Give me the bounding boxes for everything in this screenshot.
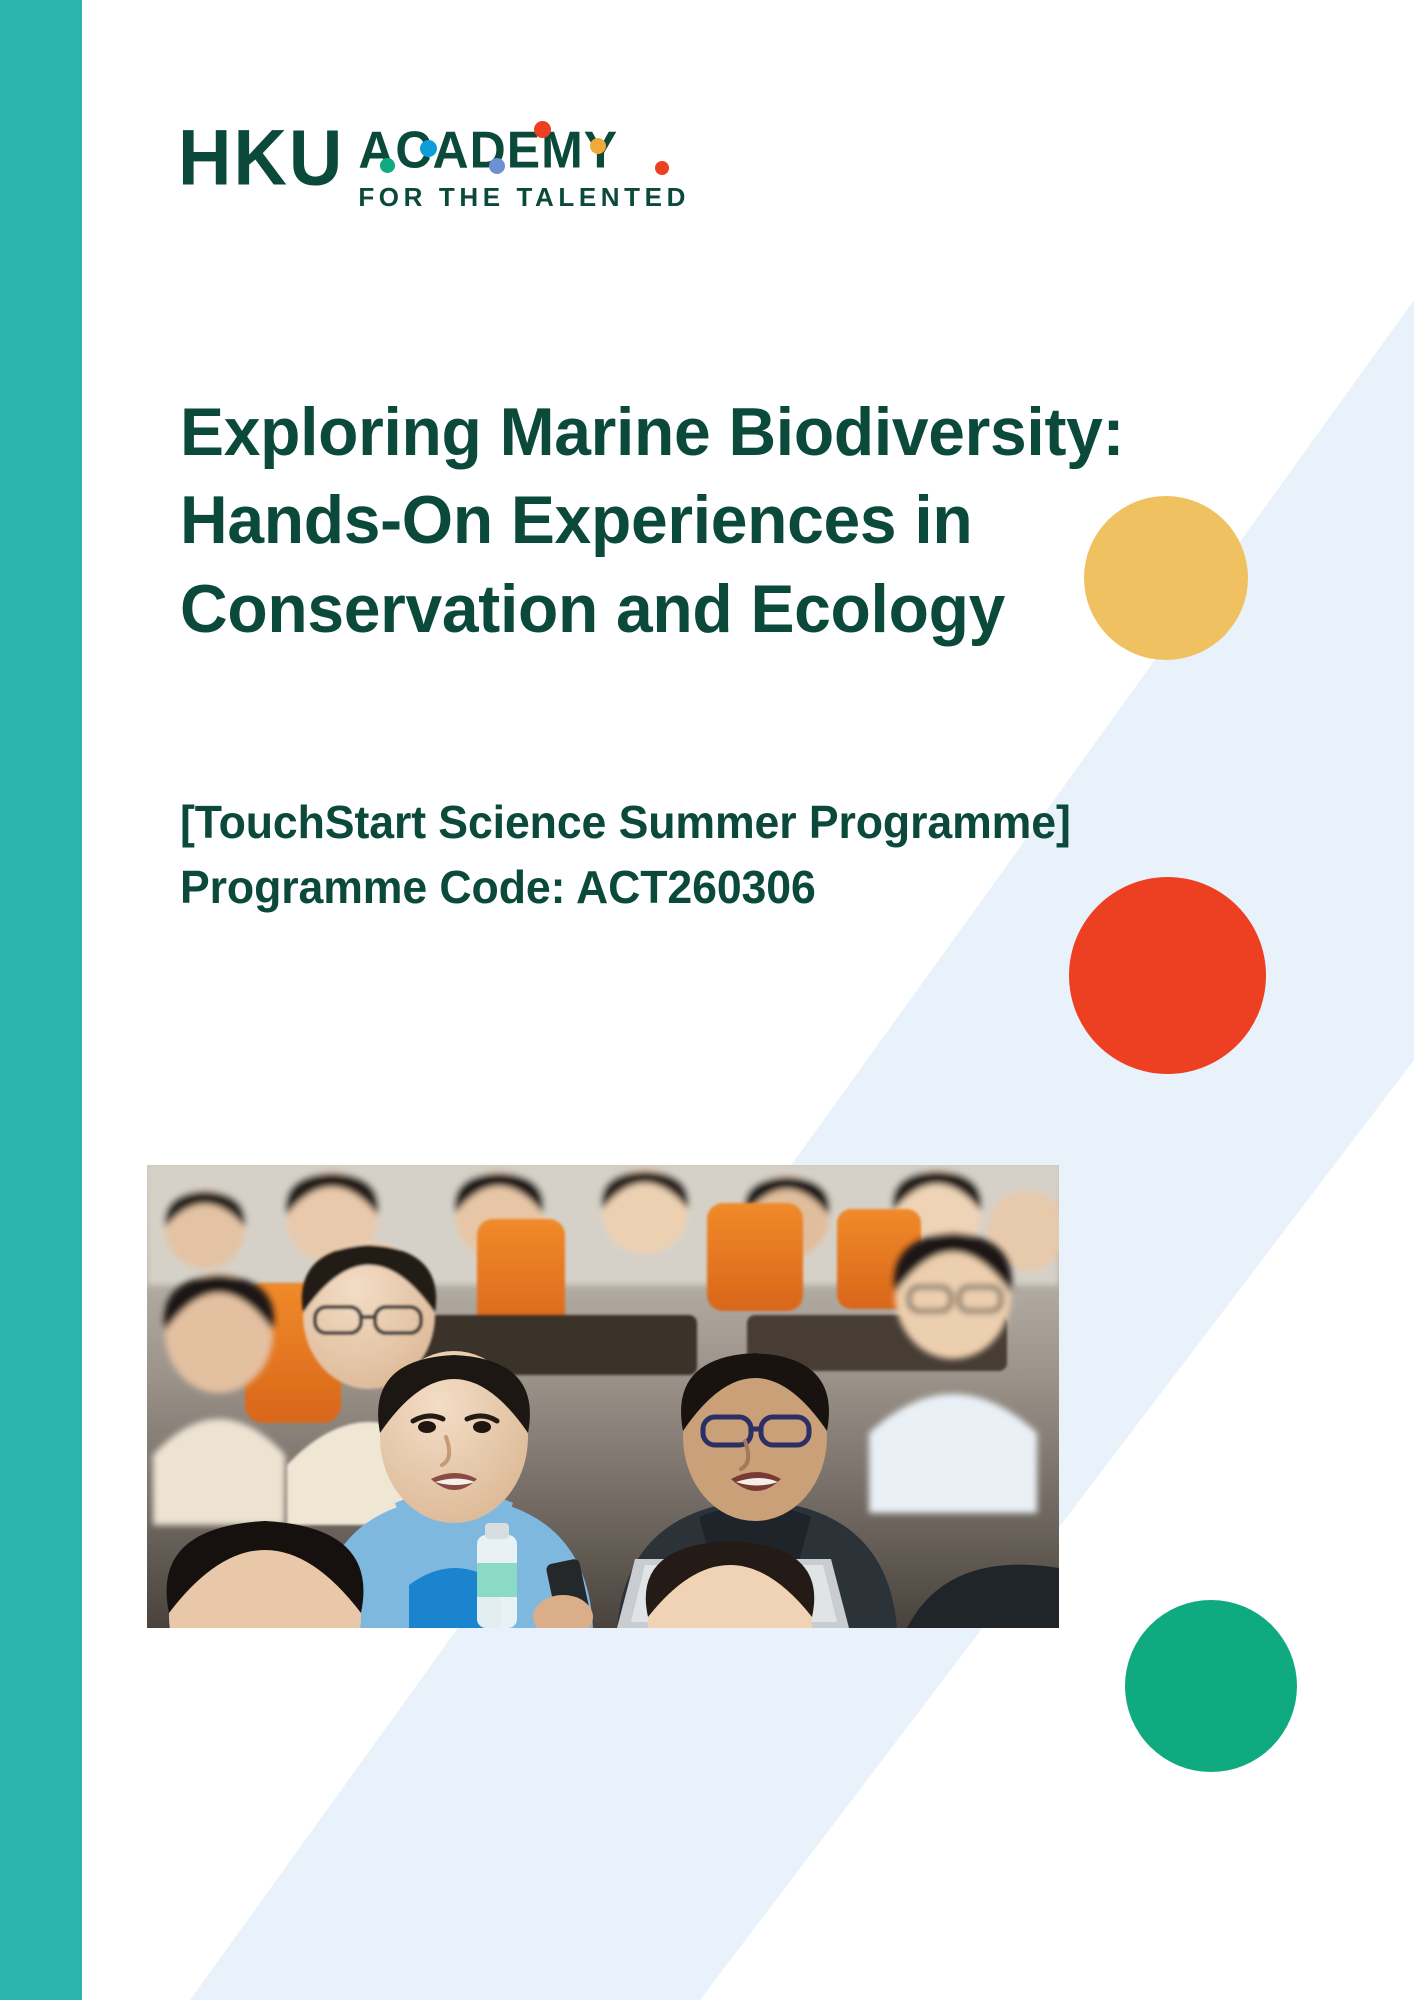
title-block: Exploring Marine Biodiversity: Hands-On …: [180, 388, 1270, 653]
green-circle: [1125, 1600, 1297, 1772]
programme-series-label: [TouchStart Science Summer Programme]: [180, 790, 1266, 855]
page-title: Exploring Marine Biodiversity: Hands-On …: [180, 388, 1237, 653]
logo-tagline: FOR THE TALENTED: [358, 182, 690, 213]
cover-page: HKU ACADEMY FOR THE TALENTED Exploring M…: [0, 0, 1414, 2000]
cover-photo: [147, 1165, 1059, 1628]
logo-academy-wrap: ACADEMY: [358, 124, 690, 176]
logo-right-group: ACADEMY FOR THE TALENTED: [358, 122, 690, 213]
subtitle-block: [TouchStart Science Summer Programme] Pr…: [180, 790, 1300, 921]
logo-academy-text: ACADEMY: [358, 124, 690, 176]
logo-hku-text: HKU: [178, 122, 344, 194]
programme-code-label: Programme Code: ACT260306: [180, 855, 1266, 920]
left-accent-bar: [0, 0, 82, 2000]
cover-photo-illustration: [147, 1165, 1059, 1628]
hku-academy-logo: HKU ACADEMY FOR THE TALENTED: [178, 122, 690, 213]
